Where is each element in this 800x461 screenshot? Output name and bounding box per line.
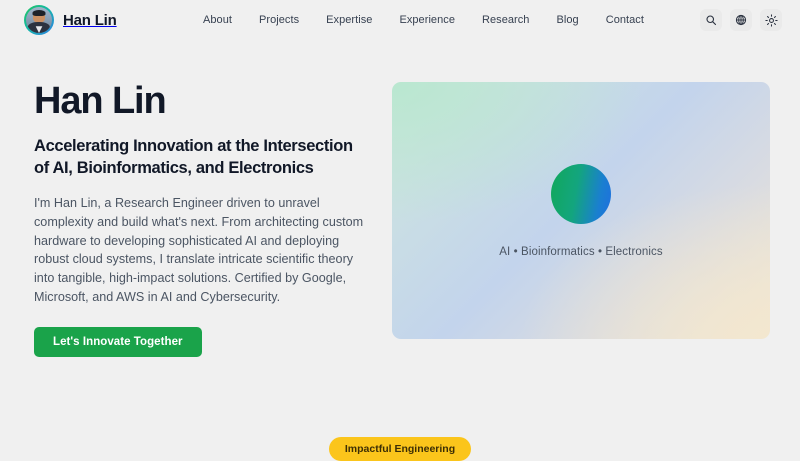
language-button[interactable] bbox=[730, 9, 752, 31]
hero-card-caption: AI • Bioinformatics • Electronics bbox=[499, 246, 662, 258]
avatar-shirt bbox=[36, 26, 43, 33]
nav-item-projects[interactable]: Projects bbox=[259, 14, 299, 26]
nav-item-expertise[interactable]: Expertise bbox=[326, 14, 372, 26]
innovate-together-button[interactable]: Let's Innovate Together bbox=[34, 327, 202, 357]
site-header: Han Lin About Projects Expertise Experie… bbox=[0, 0, 800, 40]
brand-name: Han Lin bbox=[63, 12, 117, 29]
nav-item-research[interactable]: Research bbox=[482, 14, 529, 26]
nav-item-about[interactable]: About bbox=[203, 14, 232, 26]
nav-item-contact[interactable]: Contact bbox=[606, 14, 644, 26]
hero-text-column: Han Lin Accelerating Innovation at the I… bbox=[34, 82, 366, 357]
header-actions bbox=[700, 9, 782, 31]
avatar bbox=[24, 5, 54, 35]
gradient-orb-icon bbox=[551, 164, 611, 224]
nav-item-blog[interactable]: Blog bbox=[556, 14, 578, 26]
hero-subtitle: Accelerating Innovation at the Intersect… bbox=[34, 136, 366, 180]
page-title: Han Lin bbox=[34, 82, 366, 122]
main-nav: About Projects Expertise Experience Rese… bbox=[203, 0, 644, 40]
hero-section: Han Lin Accelerating Innovation at the I… bbox=[0, 40, 800, 357]
status-badge[interactable]: Impactful Engineering bbox=[329, 437, 471, 461]
nav-item-experience[interactable]: Experience bbox=[399, 14, 455, 26]
avatar-photo bbox=[26, 7, 52, 33]
hero-body-text: I'm Han Lin, a Research Engineer driven … bbox=[34, 194, 366, 307]
hero-gradient-card: AI • Bioinformatics • Electronics bbox=[392, 82, 770, 339]
hero-visual-column: AI • Bioinformatics • Electronics bbox=[392, 82, 770, 357]
search-button[interactable] bbox=[700, 9, 722, 31]
avatar-hair bbox=[33, 10, 46, 16]
bottom-badge-row: Impactful Engineering bbox=[0, 437, 800, 461]
sun-icon bbox=[765, 14, 778, 27]
theme-toggle-button[interactable] bbox=[760, 9, 782, 31]
search-icon bbox=[705, 14, 717, 26]
brand-logo[interactable]: Han Lin bbox=[24, 5, 117, 35]
globe-icon bbox=[735, 14, 747, 26]
